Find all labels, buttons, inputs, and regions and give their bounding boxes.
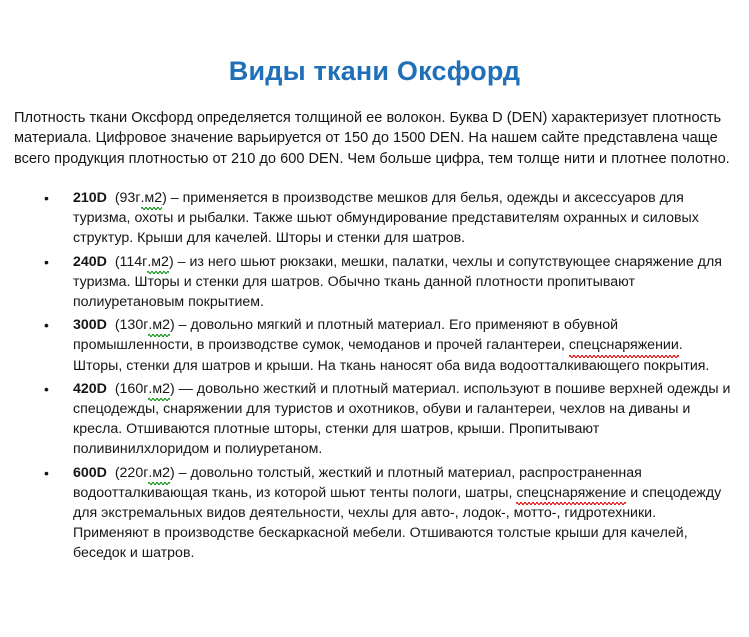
spacer bbox=[107, 465, 115, 481]
density-label-240d: 240D bbox=[73, 254, 107, 270]
grammar-flag-unit: .м2 bbox=[141, 188, 163, 208]
bullet-marker: • bbox=[44, 252, 54, 272]
weight-open-paren: (93г bbox=[115, 190, 141, 206]
weight-open-paren: (130г bbox=[115, 317, 149, 333]
spelling-flag-word: спецснаряжение bbox=[516, 483, 626, 503]
intro-paragraph: Плотность ткани Оксфорд определяется тол… bbox=[14, 108, 738, 170]
grammar-flag-unit: .м2 bbox=[148, 315, 170, 335]
density-label-300d: 300D bbox=[73, 317, 107, 333]
spacer bbox=[107, 190, 115, 206]
spacer bbox=[107, 381, 115, 397]
fabric-density-list: • 210D (93г.м2) – применяется в производ… bbox=[0, 188, 749, 567]
weight-close-paren: ) bbox=[170, 317, 175, 333]
weight-close-paren: ) bbox=[170, 381, 175, 397]
list-item: • 600D (220г.м2) – довольно толстый, жес… bbox=[0, 463, 749, 564]
bullet-marker: • bbox=[44, 315, 54, 335]
list-item: • 210D (93г.м2) – применяется в производ… bbox=[0, 188, 749, 249]
density-label-600d: 600D bbox=[73, 465, 107, 481]
spacer bbox=[107, 317, 115, 333]
dash: – bbox=[179, 465, 187, 481]
list-item: • 240D (114г.м2) – из него шьют рюкзаки,… bbox=[0, 252, 749, 313]
bullet-marker: • bbox=[44, 188, 54, 208]
spacer bbox=[107, 254, 115, 270]
weight-close-paren: ) bbox=[170, 465, 175, 481]
dash: – bbox=[179, 317, 187, 333]
density-label-420d: 420D bbox=[73, 381, 107, 397]
list-item: • 300D (130г.м2) – довольно мягкий и пло… bbox=[0, 315, 749, 376]
weight-open-paren: (160г bbox=[115, 381, 149, 397]
weight-close-paren: ) bbox=[162, 190, 167, 206]
document-page: Виды ткани Оксфорд Плотность ткани Оксфо… bbox=[0, 0, 749, 637]
weight-close-paren: ) bbox=[169, 254, 174, 270]
item-body-text: применяется в производстве мешков для бе… bbox=[73, 190, 699, 246]
list-item: • 420D (160г.м2) — довольно жесткий и пл… bbox=[0, 379, 749, 460]
spelling-flag-word: спецснаряжении bbox=[569, 335, 679, 355]
dash: – bbox=[171, 190, 179, 206]
page-title: Виды ткани Оксфорд bbox=[0, 56, 749, 87]
dash: — bbox=[179, 381, 193, 397]
grammar-flag-unit: .м2 bbox=[147, 252, 169, 272]
bullet-marker: • bbox=[44, 379, 54, 399]
density-label-210d: 210D bbox=[73, 190, 107, 206]
dash: – bbox=[178, 254, 186, 270]
bullet-marker: • bbox=[44, 463, 54, 483]
grammar-flag-unit: .м2 bbox=[148, 463, 170, 483]
weight-open-paren: (114г bbox=[115, 254, 148, 270]
grammar-flag-unit: .м2 bbox=[148, 379, 170, 399]
weight-open-paren: (220г bbox=[115, 465, 149, 481]
